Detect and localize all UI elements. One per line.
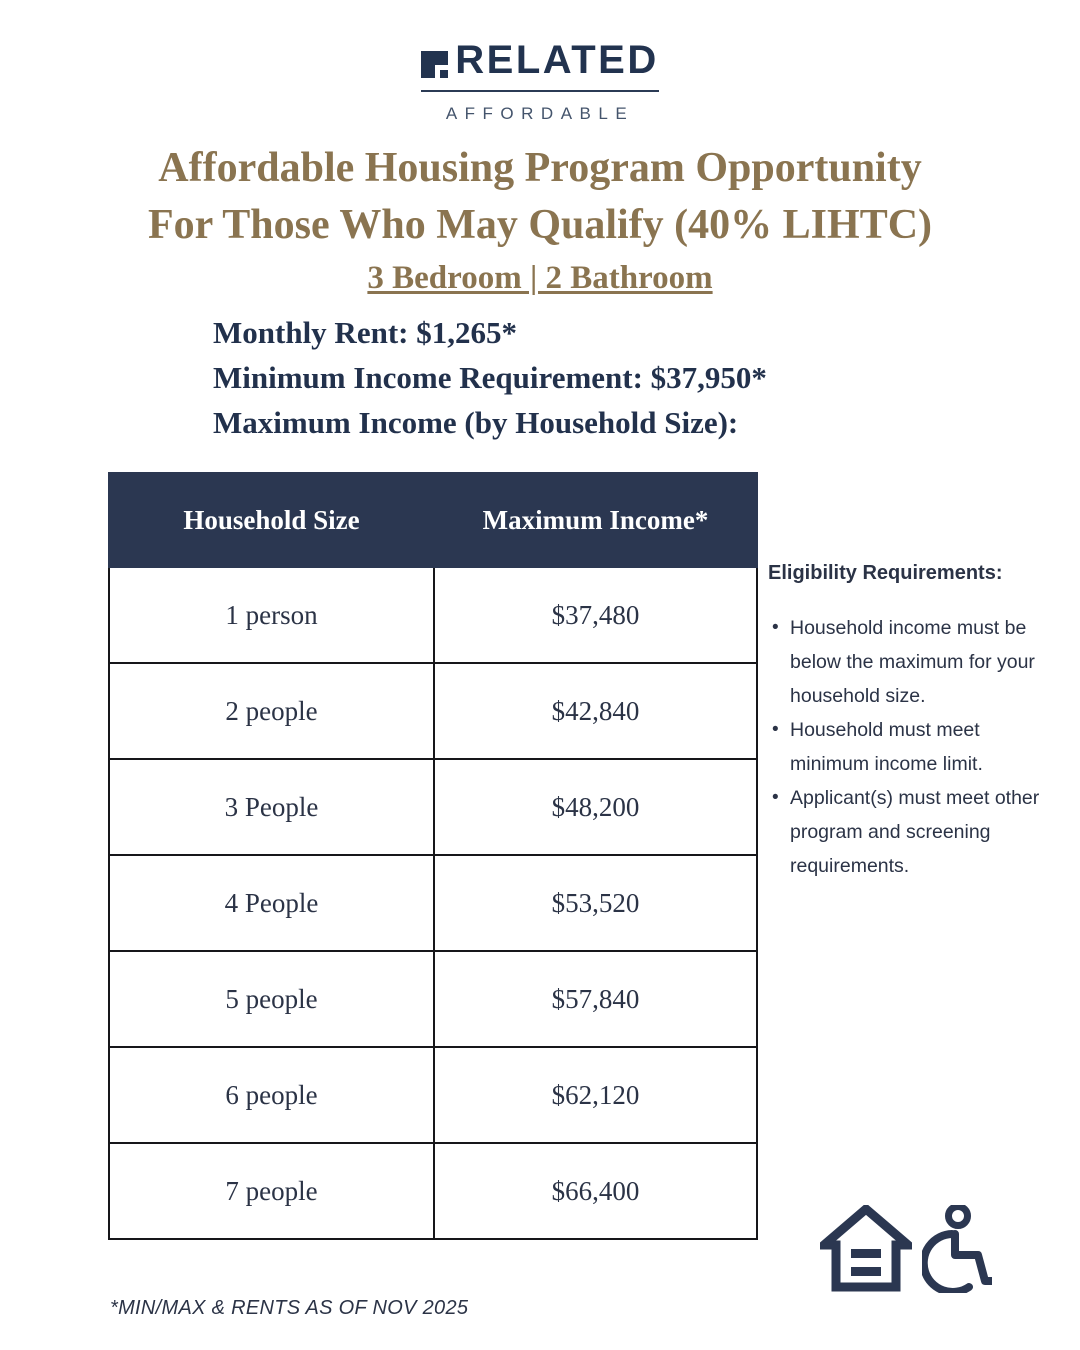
column-header-household-size: Household Size [109,473,434,567]
title-line-3-unit-type: 3 Bedroom | 2 Bathroom [0,254,1080,303]
eligibility-title: Eligibility Requirements: [768,562,1064,585]
wheelchair-accessibility-icon [922,1205,992,1293]
logo-text: RELATED [455,38,658,82]
table-row: 4 People$53,520 [109,855,757,951]
eligibility-list: Household income must be below the maxim… [768,611,1064,883]
cell-maximum-income: $66,400 [434,1143,757,1239]
footer-icons [820,1205,990,1295]
logo-subtitle: AFFORDABLE [0,104,1080,124]
column-header-maximum-income: Maximum Income* [434,473,757,567]
table-header-row: Household Size Maximum Income* [109,473,757,567]
cell-maximum-income: $37,480 [434,567,757,663]
table-row: 2 people$42,840 [109,663,757,759]
table-row: 7 people$66,400 [109,1143,757,1239]
page-title: Affordable Housing Program Opportunity F… [0,140,1080,303]
related-square-mark-icon [421,51,448,78]
title-line-1: Affordable Housing Program Opportunity [0,140,1080,197]
cell-household-size: 6 people [109,1047,434,1143]
eligibility-panel: Eligibility Requirements: Household inco… [768,562,1064,883]
logo-wordmark: RELATED [421,38,658,92]
maximum-income-label: Maximum Income (by Household Size): [213,400,1013,445]
table-row: 6 people$62,120 [109,1047,757,1143]
cell-household-size: 1 person [109,567,434,663]
cell-maximum-income: $42,840 [434,663,757,759]
minimum-income-line: Minimum Income Requirement: $37,950* [213,355,1013,400]
cell-maximum-income: $62,120 [434,1047,757,1143]
table-row: 3 People$48,200 [109,759,757,855]
brand-logo: RELATED AFFORDABLE [0,38,1080,124]
eligibility-item: Household income must be below the maxim… [790,611,1064,713]
cell-maximum-income: $57,840 [434,951,757,1047]
cell-maximum-income: $53,520 [434,855,757,951]
monthly-rent-line: Monthly Rent: $1,265* [213,310,1013,355]
equal-housing-opportunity-icon [820,1205,912,1293]
rent-details: Monthly Rent: $1,265* Minimum Income Req… [213,310,1013,445]
cell-household-size: 4 People [109,855,434,951]
eligibility-item: Household must meet minimum income limit… [790,713,1064,781]
income-limits-table: Household Size Maximum Income* 1 person$… [108,472,758,1240]
table-row: 1 person$37,480 [109,567,757,663]
footnote-text: *MIN/MAX & RENTS AS OF NOV 2025 [110,1297,468,1320]
cell-household-size: 5 people [109,951,434,1047]
table-row: 5 people$57,840 [109,951,757,1047]
cell-household-size: 3 People [109,759,434,855]
title-line-2: For Those Who May Qualify (40% LIHTC) [0,197,1080,254]
cell-household-size: 7 people [109,1143,434,1239]
cell-household-size: 2 people [109,663,434,759]
cell-maximum-income: $48,200 [434,759,757,855]
eligibility-item: Applicant(s) must meet other program and… [790,781,1064,883]
